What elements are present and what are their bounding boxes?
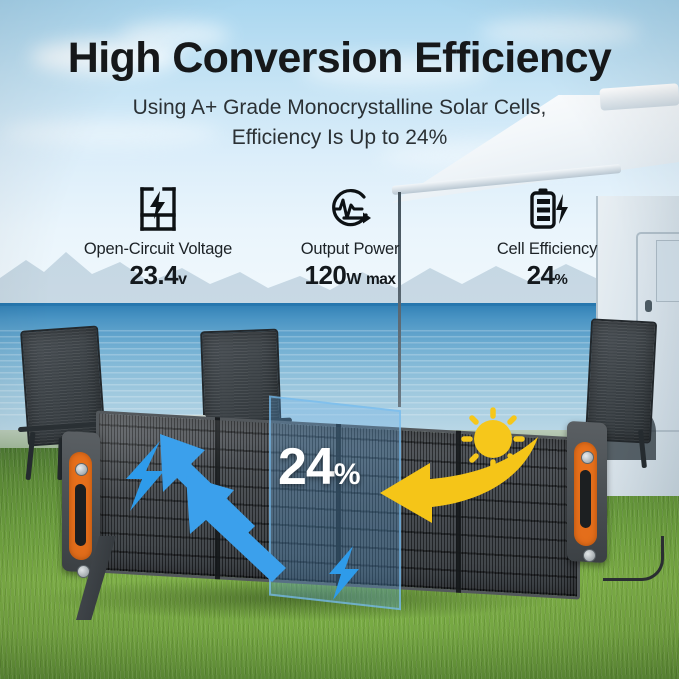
- efficiency-overlay-value: 24%: [278, 437, 360, 497]
- spec-cell-efficiency: Cell Efficiency 24%: [442, 182, 652, 291]
- grommet: [75, 463, 88, 476]
- lightning-bolt-icon: [320, 543, 368, 608]
- output-cable: [603, 536, 664, 581]
- handle-slot: [75, 484, 86, 547]
- product-marketing-image: High Conversion Efficiency Using A+ Grad…: [0, 0, 679, 679]
- solar-panel-bolt-icon: [53, 182, 263, 236]
- spec-label: Open-Circuit Voltage: [53, 240, 263, 259]
- power-waveform-arrow-icon: [245, 182, 455, 236]
- grommet: [583, 549, 596, 562]
- subtitle-line-1: Using A+ Grade Monocrystalline Solar Cel…: [0, 93, 679, 123]
- spec-open-circuit-voltage: Open-Circuit Voltage 23.4v: [53, 182, 263, 291]
- spec-output-power: Output Power 120Wmax: [245, 182, 455, 291]
- spec-value: 120Wmax: [245, 260, 455, 291]
- spec-unit: %: [555, 271, 568, 288]
- percent-sign: %: [334, 458, 360, 491]
- subtitle-line-2: Efficiency Is Up to 24%: [0, 123, 679, 153]
- spec-unit: v: [178, 271, 186, 288]
- spec-value: 23.4v: [53, 260, 263, 291]
- grommet: [77, 565, 90, 578]
- horizon-line: [0, 303, 679, 306]
- spec-label: Output Power: [245, 240, 455, 259]
- spec-highlights: Open-Circuit Voltage 23.4v Output Power …: [0, 182, 679, 292]
- spec-suffix: max: [366, 271, 396, 288]
- handle-slot: [580, 470, 591, 529]
- page-subtitle: Using A+ Grade Monocrystalline Solar Cel…: [0, 93, 679, 153]
- spec-label: Cell Efficiency: [442, 240, 652, 259]
- spec-unit: W: [346, 271, 361, 288]
- battery-bolt-icon: [442, 182, 652, 236]
- rv-door-handle: [645, 300, 652, 312]
- spec-value: 24%: [442, 260, 652, 291]
- grommet: [581, 451, 594, 464]
- arrow-left-icon: [378, 435, 556, 536]
- page-title: High Conversion Efficiency: [0, 36, 679, 82]
